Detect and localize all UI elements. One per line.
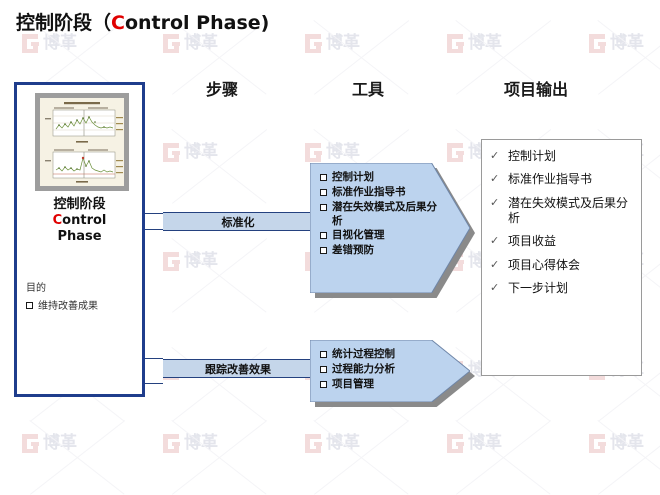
brand-logo-icon <box>163 434 180 453</box>
brand-logo-bar <box>600 46 605 53</box>
watermark-logo: 博革 <box>163 434 218 453</box>
brand-logo-bar <box>174 155 179 162</box>
output-item-label: 标准作业指导书 <box>508 172 592 187</box>
phase-purpose-item-text: 维持改善成果 <box>38 299 98 314</box>
brand-logo-bar <box>310 158 318 163</box>
square-bullet-icon <box>26 302 33 309</box>
watermark-diagonal-line <box>30 420 125 495</box>
tools-list-standardization: 控制计划标准作业指导书潜在失效模式及后果分析目视化管理差错预防 <box>320 171 438 259</box>
brand-logo-bar <box>172 442 180 446</box>
tool-item: 潜在失效模式及后果分析 <box>320 201 438 229</box>
brand-logo-bar <box>168 49 176 54</box>
watermark-text: 博革 <box>610 435 644 452</box>
watermark-diagonal-line <box>598 20 660 95</box>
connector-stub-2b <box>145 383 163 384</box>
watermark-text: 博革 <box>184 144 218 161</box>
square-bullet-icon <box>320 189 327 196</box>
brand-logo-icon <box>447 434 464 453</box>
step-band-track-results[interactable]: 跟踪改善效果 <box>163 359 313 378</box>
tool-item-label: 目视化管理 <box>332 229 385 243</box>
step-band-standardization[interactable]: 标准化 <box>163 212 313 231</box>
brand-logo-bar <box>594 49 602 54</box>
brand-logo-bar <box>31 442 39 446</box>
tool-item-label: 过程能力分析 <box>332 363 395 377</box>
project-output-list: ✓控制计划✓标准作业指导书✓潜在失效模式及后果分析✓项目收益✓项目心得体会✓下一… <box>482 140 641 297</box>
brand-logo-bar <box>594 449 602 454</box>
brand-logo-icon <box>163 34 180 53</box>
tool-item: 标准作业指导书 <box>320 186 438 200</box>
check-icon: ✓ <box>490 149 503 163</box>
phase-name-cn: 控制阶段 <box>17 197 142 213</box>
tools-chevron-track-results[interactable]: 统计过程控制过程能力分析项目管理 <box>310 340 470 402</box>
brand-logo-bar <box>456 151 464 155</box>
brand-logo-bar <box>598 442 606 446</box>
brand-logo-bar <box>168 143 179 148</box>
watermark-diagonal-line <box>172 129 267 204</box>
brand-logo-bar <box>168 449 176 454</box>
brand-logo-bar <box>172 260 180 264</box>
brand-logo-bar <box>168 252 179 257</box>
step-band-track-results-label: 跟踪改善效果 <box>205 361 271 377</box>
brand-logo-icon <box>305 143 322 162</box>
brand-logo-icon <box>305 34 322 53</box>
tools-chevron-standardization[interactable]: 控制计划标准作业指导书潜在失效模式及后果分析目视化管理差错预防 <box>310 163 470 293</box>
control-chart-thumbnail-inner <box>40 98 124 186</box>
phase-purpose-item: 维持改善成果 <box>26 299 98 314</box>
check-icon: ✓ <box>490 258 503 272</box>
watermark-diagonal-line <box>597 420 660 495</box>
watermark-logo: 博革 <box>589 434 644 453</box>
brand-logo-bar <box>305 434 310 453</box>
brand-logo-icon <box>305 434 322 453</box>
watermark-diagonal-line <box>598 420 660 495</box>
watermark-text: 博革 <box>468 35 502 52</box>
output-item-label: 下一步计划 <box>508 281 568 296</box>
brand-logo-bar <box>314 442 322 446</box>
output-item: ✓下一步计划 <box>490 281 635 296</box>
brand-logo-bar <box>594 34 605 39</box>
square-bullet-icon <box>320 381 327 388</box>
brand-logo-bar <box>174 446 179 453</box>
column-header-outputs: 项目输出 <box>504 76 568 100</box>
watermark-diagonal-line <box>172 238 267 313</box>
brand-logo-bar <box>163 434 168 453</box>
tool-item-label: 潜在失效模式及后果分析 <box>332 201 438 229</box>
check-icon: ✓ <box>490 172 503 186</box>
watermark-diagonal-line <box>455 420 550 495</box>
output-item: ✓潜在失效模式及后果分析 <box>490 196 635 227</box>
brand-logo-icon <box>22 434 39 453</box>
brand-logo-bar <box>310 434 321 439</box>
connector-stub-1 <box>145 213 163 214</box>
brand-logo-bar <box>316 155 321 162</box>
brand-logo-bar <box>27 434 38 439</box>
tool-item: 统计过程控制 <box>320 348 438 362</box>
brand-logo-bar <box>33 446 38 453</box>
brand-logo-bar <box>316 446 321 453</box>
brand-logo-bar <box>310 143 321 148</box>
square-bullet-icon <box>320 366 327 373</box>
brand-logo-icon <box>447 34 464 53</box>
output-item: ✓项目心得体会 <box>490 258 635 273</box>
tool-item-label: 项目管理 <box>332 378 374 392</box>
watermark-logo: 博革 <box>163 34 218 53</box>
check-icon: ✓ <box>490 234 503 248</box>
output-item: ✓控制计划 <box>490 149 635 164</box>
control-chart-thumbnail <box>35 93 129 191</box>
brand-logo-bar <box>458 446 463 453</box>
watermark-text: 博革 <box>43 435 77 452</box>
square-bullet-icon <box>320 247 327 254</box>
watermark-text: 博革 <box>610 35 644 52</box>
brand-logo-icon <box>589 34 606 53</box>
watermark-diagonal-line <box>172 420 267 495</box>
page-title-prefix: 控制阶段（ <box>16 12 111 34</box>
brand-logo-bar <box>163 34 168 53</box>
tool-item-label: 差错预防 <box>332 244 374 258</box>
watermark-diagonal-line <box>456 420 551 495</box>
step-band-standardization-label: 标准化 <box>222 214 255 230</box>
brand-logo-bar <box>316 46 321 53</box>
brand-logo-bar <box>447 143 452 162</box>
square-bullet-icon <box>320 351 327 358</box>
brand-logo-bar <box>594 376 602 381</box>
brand-logo-bar <box>452 143 463 148</box>
watermark-diagonal-line <box>29 420 124 495</box>
brand-logo-bar <box>594 434 605 439</box>
brand-logo-bar <box>22 434 27 453</box>
brand-logo-bar <box>22 34 27 53</box>
brand-logo-bar <box>33 46 38 53</box>
phase-purpose-block: 目的 维持改善成果 <box>26 281 98 314</box>
brand-logo-bar <box>598 42 606 46</box>
tool-item: 项目管理 <box>320 378 438 392</box>
brand-logo-bar <box>27 449 35 454</box>
watermark-logo: 博革 <box>22 434 77 453</box>
brand-logo-bar <box>452 34 463 39</box>
brand-logo-bar <box>600 446 605 453</box>
watermark-logo: 博革 <box>305 143 360 162</box>
watermark-text: 博革 <box>184 253 218 270</box>
watermark-text: 博革 <box>468 435 502 452</box>
mini-control-chart-svg <box>40 98 124 186</box>
brand-logo-bar <box>174 46 179 53</box>
column-header-tools: 工具 <box>352 76 384 100</box>
watermark-logo: 博革 <box>447 434 502 453</box>
connector-stub-1b <box>145 229 163 230</box>
square-bullet-icon <box>320 232 327 239</box>
watermark-diagonal-line <box>597 20 660 95</box>
brand-logo-bar <box>452 158 460 163</box>
brand-logo-bar <box>310 34 321 39</box>
brand-logo-icon <box>22 34 39 53</box>
brand-logo-icon <box>163 252 180 271</box>
watermark-logo: 博革 <box>305 34 360 53</box>
output-item: ✓标准作业指导书 <box>490 172 635 187</box>
brand-logo-bar <box>27 49 35 54</box>
watermark-logo: 博革 <box>163 143 218 162</box>
watermark-diagonal-line <box>171 129 266 204</box>
page-title-red-letter: C <box>111 12 125 34</box>
phase-name-en-line2: Phase <box>17 229 142 245</box>
brand-logo-bar <box>31 42 39 46</box>
output-item-label: 项目心得体会 <box>508 258 580 273</box>
brand-logo-bar <box>168 434 179 439</box>
watermark-logo: 博革 <box>447 34 502 53</box>
brand-logo-bar <box>305 34 310 53</box>
tool-item-label: 统计过程控制 <box>332 348 395 362</box>
tool-item: 控制计划 <box>320 171 438 185</box>
watermark-text: 博革 <box>184 35 218 52</box>
watermark-text: 博革 <box>184 435 218 452</box>
brand-logo-bar <box>310 49 318 54</box>
check-icon: ✓ <box>490 196 503 210</box>
brand-logo-bar <box>310 449 318 454</box>
square-bullet-icon <box>320 174 327 181</box>
phase-name: 控制阶段 Control Phase <box>17 197 142 245</box>
phase-purpose-label: 目的 <box>26 281 98 296</box>
brand-logo-bar <box>305 143 310 162</box>
slide-canvas: 博革博革博革博革博革博革博革博革博革博革博革博革博革博革博革博革博革博革博革博革… <box>0 0 660 495</box>
watermark-logo: 博革 <box>22 34 77 53</box>
phase-panel[interactable]: 控制阶段 Control Phase 目的 维持改善成果 <box>14 82 145 397</box>
brand-logo-bar <box>174 264 179 271</box>
brand-logo-bar <box>314 151 322 155</box>
watermark-text: 博革 <box>326 144 360 161</box>
square-bullet-icon <box>320 204 327 211</box>
watermark-diagonal-line <box>171 238 266 313</box>
watermark-text: 博革 <box>326 35 360 52</box>
connector-stub-2 <box>145 358 163 359</box>
brand-logo-bar <box>163 252 168 271</box>
phase-name-en-line1: Control <box>17 213 142 229</box>
brand-logo-bar <box>589 434 594 453</box>
brand-logo-bar <box>447 434 452 453</box>
brand-logo-icon <box>589 434 606 453</box>
brand-logo-icon <box>447 143 464 162</box>
phase-name-en-rest: ontrol <box>62 213 106 228</box>
page-title-suffix: ontrol Phase) <box>125 12 269 34</box>
watermark-diagonal-line <box>313 420 408 495</box>
brand-logo-bar <box>458 46 463 53</box>
brand-logo-bar <box>456 42 464 46</box>
brand-logo-bar <box>172 151 180 155</box>
brand-logo-bar <box>447 34 452 53</box>
output-item: ✓项目收益 <box>490 234 635 249</box>
check-icon: ✓ <box>490 281 503 295</box>
brand-logo-bar <box>314 42 322 46</box>
brand-logo-bar <box>168 158 176 163</box>
tool-item: 目视化管理 <box>320 229 438 243</box>
brand-logo-bar <box>458 155 463 162</box>
project-output-box[interactable]: ✓控制计划✓标准作业指导书✓潜在失效模式及后果分析✓项目收益✓项目心得体会✓下一… <box>481 139 642 376</box>
brand-logo-bar <box>163 143 168 162</box>
output-item-label: 项目收益 <box>508 234 556 249</box>
brand-logo-bar <box>452 49 460 54</box>
watermark-logo: 博革 <box>163 252 218 271</box>
watermark-diagonal-line <box>314 420 409 495</box>
watermark-diagonal-line <box>171 420 266 495</box>
phase-name-en-red: C <box>53 213 63 228</box>
output-item-label: 潜在失效模式及后果分析 <box>508 196 635 227</box>
tools-list-track-results: 统计过程控制过程能力分析项目管理 <box>320 348 438 393</box>
watermark-text: 博革 <box>43 35 77 52</box>
tool-item: 差错预防 <box>320 244 438 258</box>
brand-logo-icon <box>163 143 180 162</box>
brand-logo-bar <box>452 449 460 454</box>
brand-logo-bar <box>452 434 463 439</box>
column-header-steps: 步骤 <box>206 76 238 100</box>
brand-logo-bar <box>172 42 180 46</box>
tool-item-label: 标准作业指导书 <box>332 186 406 200</box>
tool-item: 过程能力分析 <box>320 363 438 377</box>
tool-item-label: 控制计划 <box>332 171 374 185</box>
watermark-logo: 博革 <box>589 34 644 53</box>
watermark-logo: 博革 <box>305 434 360 453</box>
page-title: 控制阶段（Control Phase) <box>16 8 269 35</box>
brand-logo-bar <box>456 442 464 446</box>
watermark-text: 博革 <box>326 435 360 452</box>
brand-logo-bar <box>589 34 594 53</box>
output-item-label: 控制计划 <box>508 149 556 164</box>
brand-logo-bar <box>168 267 176 272</box>
